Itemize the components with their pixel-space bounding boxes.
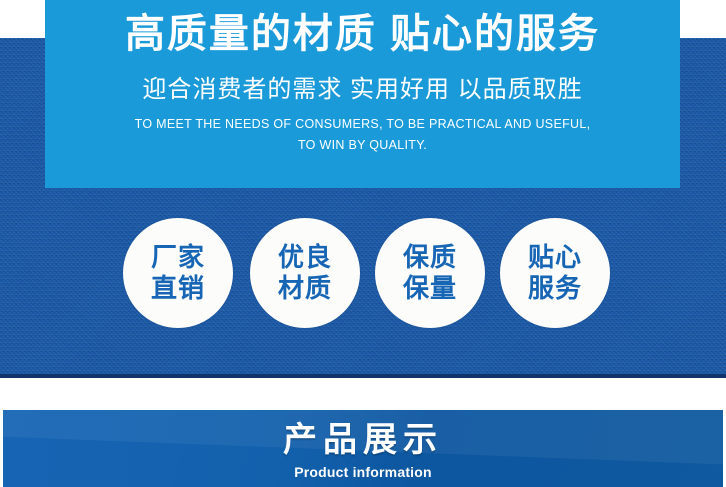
headline-english-line-1: TO MEET THE NEEDS OF CONSUMERS, TO BE PR… <box>45 114 680 135</box>
feature-circle-4-line-1: 贴心 <box>528 242 582 273</box>
product-section-banner: 产品展示 Product information <box>3 410 723 487</box>
headline-panel: 高质量的材质 贴心的服务 迎合消费者的需求 实用好用 以品质取胜 TO MEET… <box>45 0 680 188</box>
feature-circle-1[interactable]: 厂家 直销 <box>123 218 233 328</box>
feature-circle-2[interactable]: 优良 材质 <box>250 218 360 328</box>
feature-circles-row: 厂家 直销 优良 材质 保质 保量 贴心 服务 <box>0 218 726 330</box>
headline-subtitle: 迎合消费者的需求 实用好用 以品质取胜 <box>45 74 680 106</box>
feature-circle-2-line-2: 材质 <box>278 273 332 304</box>
feature-circle-2-line-1: 优良 <box>278 242 332 273</box>
headline-english-line-2: TO WIN BY QUALITY. <box>45 135 680 156</box>
feature-circle-4[interactable]: 贴心 服务 <box>500 218 610 328</box>
headline-main-title: 高质量的材质 贴心的服务 <box>45 8 680 60</box>
feature-circle-4-line-2: 服务 <box>528 273 582 304</box>
feature-circle-1-line-1: 厂家 <box>151 242 205 273</box>
feature-circle-3-line-1: 保质 <box>403 242 457 273</box>
promo-banner-page: 高质量的材质 贴心的服务 迎合消费者的需求 实用好用 以品质取胜 TO MEET… <box>0 0 726 487</box>
product-section-subtitle: Product information <box>3 463 723 481</box>
product-section-title: 产品展示 <box>3 419 723 461</box>
feature-circle-3[interactable]: 保质 保量 <box>375 218 485 328</box>
feature-circle-3-line-2: 保量 <box>403 273 457 304</box>
headline-english-block: TO MEET THE NEEDS OF CONSUMERS, TO BE PR… <box>45 114 680 156</box>
feature-circle-1-line-2: 直销 <box>151 273 205 304</box>
textured-panel-bottom-edge <box>0 374 726 378</box>
